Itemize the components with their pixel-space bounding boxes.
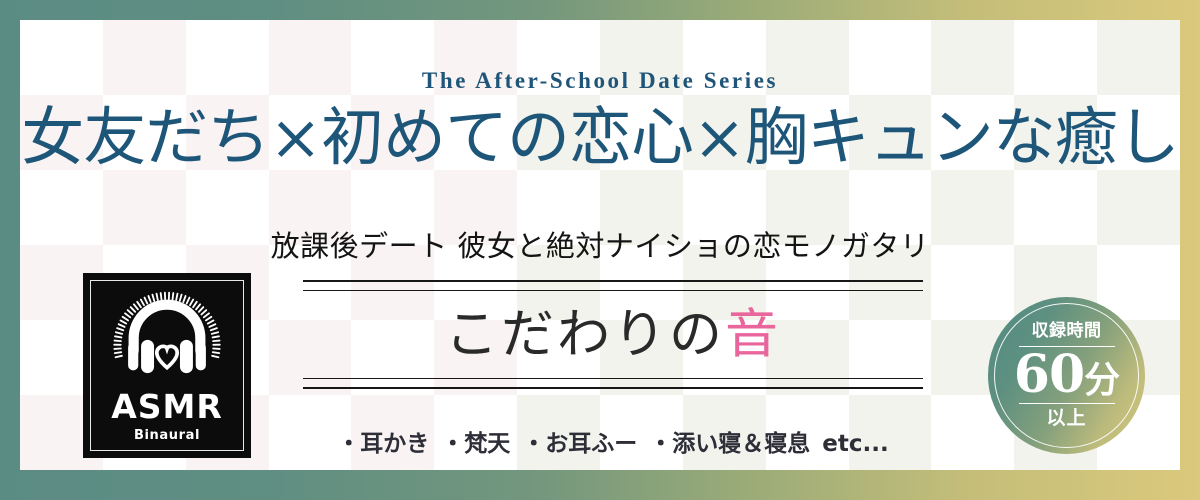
asmr-badge: ASMR Binaural (83, 273, 251, 458)
duration-unit: 分 (1084, 363, 1119, 400)
subtitle: 放課後デート 彼女と絶対ナイショの恋モノガタリ (20, 223, 1180, 265)
tag-item: ・添い寝＆寝息 (649, 431, 810, 457)
duration-number: 60 (1014, 348, 1084, 401)
page-title: 女友だち×初めての恋心×胸キュンな癒し (20, 103, 1180, 172)
tag-item: ・耳かき (337, 431, 429, 457)
promo-banner: The After-School Date Series 女友だち×初めての恋心… (0, 0, 1200, 500)
feature-headline: こだわりの音 (303, 291, 923, 378)
asmr-subtitle: Binaural (134, 428, 200, 443)
headphones-heart-icon (111, 288, 223, 388)
divider-top (303, 280, 923, 291)
series-eyebrow: The After-School Date Series (20, 68, 1180, 94)
duration-qualifier: 以上 (1046, 409, 1086, 428)
duration-label: 収録時間 (1032, 323, 1102, 340)
tag-item: etc... (822, 431, 888, 457)
feature-text-accent: 音 (725, 304, 781, 365)
tag-list: ・耳かき・梵天・お耳ふー・添い寝＆寝息etc... (303, 424, 923, 458)
feature-block: こだわりの音 (303, 280, 923, 389)
asmr-badge-inner: ASMR Binaural (90, 280, 244, 451)
tag-item: ・お耳ふー (522, 431, 637, 457)
duration-divider-bottom (1019, 403, 1115, 404)
divider-bottom (303, 378, 923, 389)
feature-text-main: こだわりの (445, 304, 725, 365)
tag-item: ・梵天 (441, 431, 510, 457)
asmr-title: ASMR (111, 390, 223, 423)
duration-badge: 収録時間 60分 以上 (988, 297, 1145, 454)
banner-inner: The After-School Date Series 女友だち×初めての恋心… (20, 20, 1180, 470)
duration-value: 60分 (1014, 348, 1119, 401)
banner-content: The After-School Date Series 女友だち×初めての恋心… (20, 20, 1180, 470)
